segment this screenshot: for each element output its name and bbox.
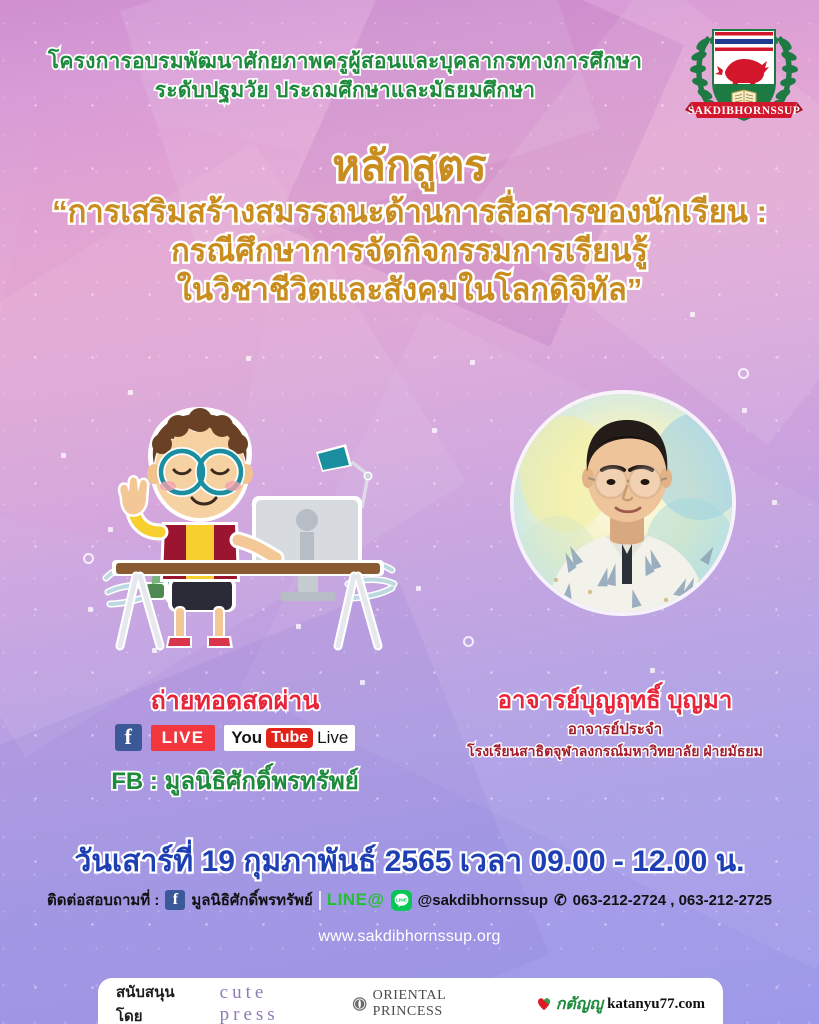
contact-label: ติดต่อสอบถามที่ :	[47, 888, 159, 912]
title-line-1: “การเสริมสร้างสมรรถนะด้านการสื่อสารของนั…	[0, 192, 819, 231]
svg-text:LINE: LINE	[396, 897, 408, 903]
oriental-princess-icon	[352, 996, 367, 1012]
title-line-3: ในวิชาชีวิตและสังคมในโลกดิจิทัล”	[0, 270, 819, 309]
speaker-info: อาจารย์บุญฤทธิ์ บุญมา อาจารย์ประจำ โรงเร…	[420, 686, 810, 761]
header-block: โครงการอบรมพัฒนาศักยภาพครูผู้สอนและบุคลา…	[0, 48, 690, 106]
katanyu-heart-icon	[536, 996, 552, 1012]
speaker-organization: โรงเรียนสาธิตจุฬาลงกรณ์มหาวิทยาลัย ฝ่ายม…	[420, 742, 810, 761]
youtube-live-badge[interactable]: You Tube Live	[224, 725, 355, 751]
sponsor-katanyu-thai: กตัญญู	[556, 992, 603, 1017]
boy-at-desk-illustration	[100, 400, 400, 665]
sponsor-label: สนับสนุนโดย	[116, 980, 198, 1024]
broadcast-title: ถ่ายทอดสดผ่าน	[60, 686, 410, 716]
youtube-live-text: Live	[317, 728, 348, 748]
sponsor-cute-press: cute press	[220, 982, 331, 1024]
contact-divider	[319, 891, 321, 910]
website-url[interactable]: www.sakdibhornssup.org	[0, 928, 819, 946]
speaker-photo	[510, 390, 736, 616]
header-line-2: ระดับปฐมวัย ประถมศึกษาและมัธยมศึกษา	[0, 76, 690, 106]
title-line-2: กรณีศึกษาการจัดกิจกรรมการเรียนรู้	[0, 231, 819, 270]
phone-icon: ✆	[554, 891, 567, 909]
sponsor-oriental-princess-text: ORIENTAL PRINCESS	[373, 988, 514, 1020]
facebook-icon[interactable]: f	[165, 890, 185, 910]
contact-facebook-name[interactable]: มูลนิธิศักดิ์พรทรัพย์	[191, 888, 312, 912]
sakdibhornssup-logo: SAKDIBHORNSSUP	[681, 14, 807, 136]
schedule-date-time: วันเสาร์ที่ 19 กุมภาพันธ์ 2565 เวลา 09.0…	[0, 838, 819, 885]
broadcast-section: ถ่ายทอดสดผ่าน f LIVE You Tube Live FB : …	[60, 686, 410, 800]
broadcast-badges: f LIVE You Tube Live	[60, 724, 410, 751]
sponsor-oriental-princess: ORIENTAL PRINCESS	[352, 988, 513, 1020]
youtube-tube-text: Tube	[266, 728, 313, 748]
line-icon[interactable]: LINE	[391, 890, 412, 911]
contact-row: ติดต่อสอบถามที่ : f มูลนิธิศักดิ์พรทรัพย…	[0, 888, 819, 912]
title-heading: หลักสูตร	[0, 140, 819, 192]
crest-banner-text: SAKDIBHORNSSUP	[688, 105, 800, 117]
phone-numbers: 063-212-2724 , 063-212-2725	[573, 892, 772, 909]
sponsor-katanyu-url: katanyu77.com	[607, 996, 705, 1013]
facebook-live-badge[interactable]: LIVE	[151, 725, 216, 751]
poster-canvas: โครงการอบรมพัฒนาศักยภาพครูผู้สอนและบุคลา…	[0, 0, 819, 1024]
sponsor-bar: สนับสนุนโดย cute press ORIENTAL PRINCESS…	[98, 978, 723, 1024]
facebook-page-name: FB : มูลนิธิศักดิ์พรทรัพย์	[60, 761, 410, 800]
youtube-you-text: You	[231, 728, 262, 748]
header-line-1: โครงการอบรมพัฒนาศักยภาพครูผู้สอนและบุคลา…	[0, 48, 690, 76]
line-label: LINE@	[327, 890, 385, 910]
speaker-role: อาจารย์ประจำ	[420, 720, 810, 740]
speaker-name: อาจารย์บุญฤทธิ์ บุญมา	[420, 686, 810, 716]
line-id[interactable]: @sakdibhornssup	[418, 892, 548, 909]
course-title-block: หลักสูตร “การเสริมสร้างสมรรถนะด้านการสื่…	[0, 140, 819, 309]
sponsor-katanyu: กตัญญู katanyu77.com	[536, 992, 705, 1017]
facebook-icon[interactable]: f	[115, 724, 142, 751]
